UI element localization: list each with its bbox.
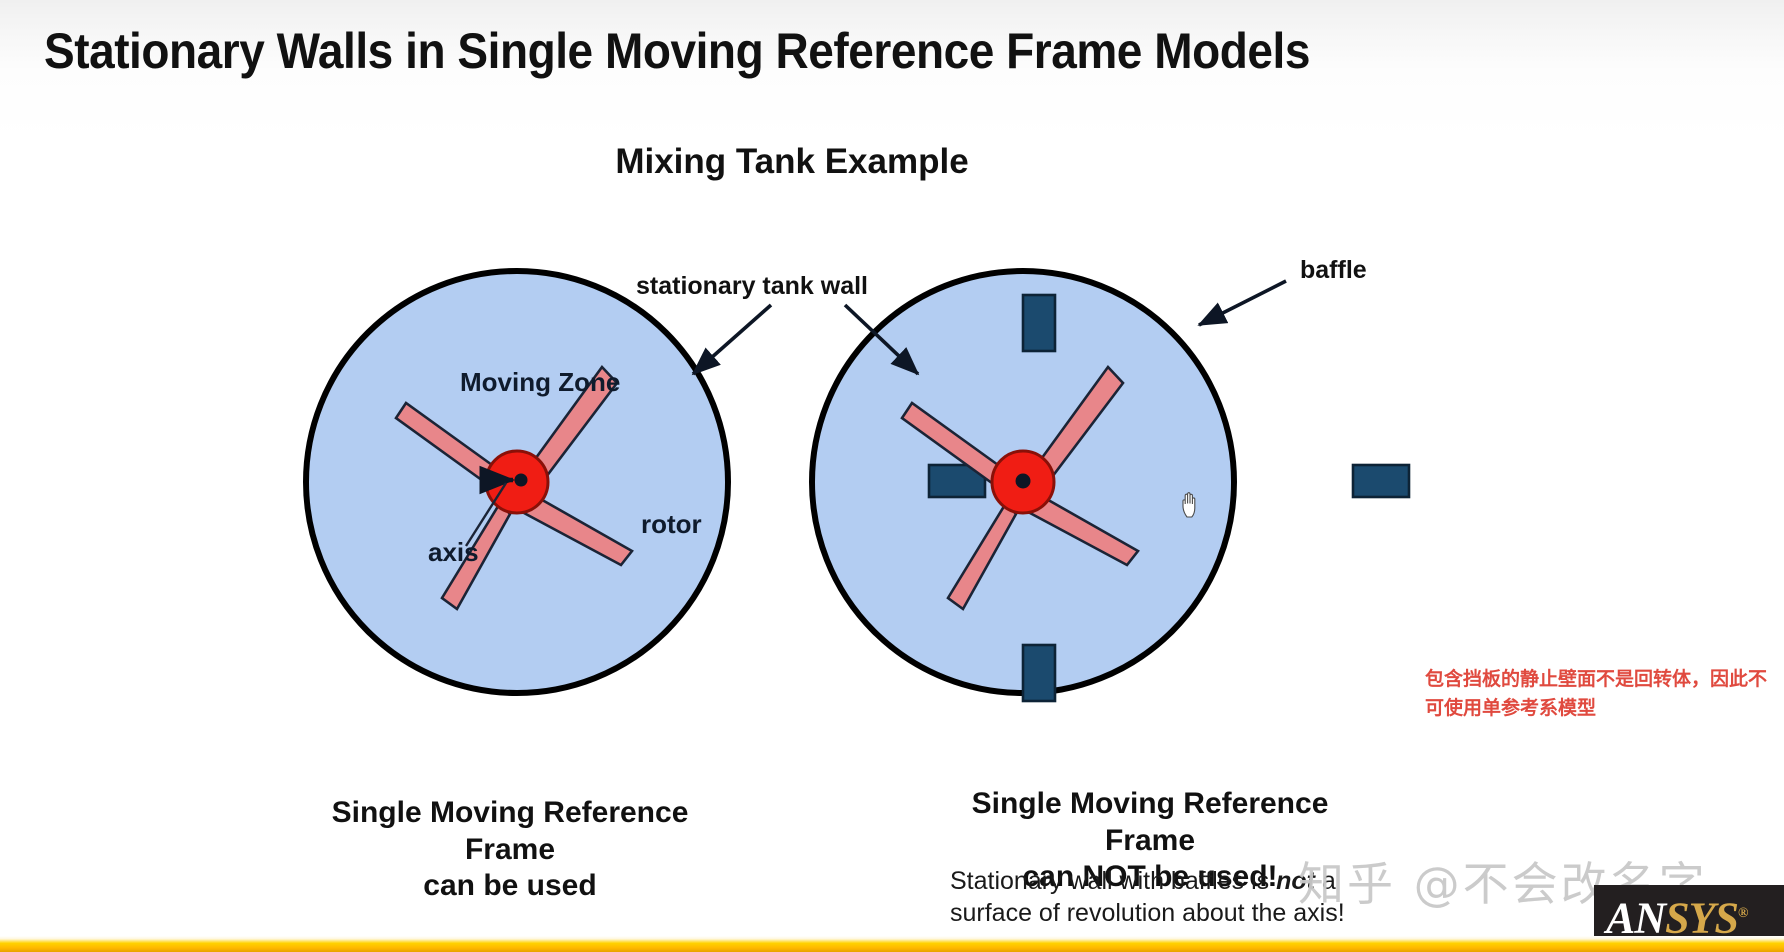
page-subtitle: Mixing Tank Example xyxy=(0,142,1784,182)
baffle-top-visible xyxy=(1023,295,1055,351)
label-axis: axis xyxy=(428,537,479,568)
baffle-left-visible xyxy=(929,465,985,497)
right-rotor-hub xyxy=(992,451,1054,513)
left-rotor-hub xyxy=(486,451,548,513)
ansys-logo-text: ANSYS® xyxy=(1606,887,1747,943)
baffle-leader xyxy=(1199,281,1286,325)
right-rotor-blades xyxy=(902,367,1138,609)
right-axis-point xyxy=(1016,474,1031,489)
baffle-bottom-visible xyxy=(1023,645,1055,701)
ansys-logo: ANSYS® xyxy=(1594,885,1784,943)
footer-gold-bar xyxy=(0,936,1784,952)
slide-canvas: Stationary Walls in Single Moving Refere… xyxy=(0,0,1784,952)
ansys-logo-registered: ® xyxy=(1738,906,1747,921)
label-baffle: baffle xyxy=(1300,256,1367,285)
caption-left-tank: Single Moving Reference Frame can be use… xyxy=(290,795,730,905)
left-rotor-blades xyxy=(396,367,632,609)
grab-hand-cursor xyxy=(1180,490,1206,520)
annotation-chinese-note: 包含挡板的静止壁面不是回转体，因此不可使用单参考系模型 xyxy=(1425,665,1775,724)
right-tank-wall xyxy=(812,271,1234,693)
left-axis-point xyxy=(515,474,528,487)
page-subtitle-text: Mixing Tank Example xyxy=(615,142,968,182)
tankwall-leader-left xyxy=(693,305,771,374)
baffle-right-visible xyxy=(1353,465,1409,497)
tankwall-leader-right xyxy=(845,305,918,374)
label-rotor: rotor xyxy=(641,509,702,540)
right-tank-group xyxy=(812,271,1409,701)
left-tank-wall xyxy=(306,271,728,693)
label-moving-zone: Moving Zone xyxy=(460,367,620,398)
left-tank-group xyxy=(306,271,728,693)
subcap-prefix: Stationary wall with baffles is xyxy=(950,867,1276,895)
page-title: Stationary Walls in Single Moving Refere… xyxy=(44,22,1310,80)
label-stationary-tank-wall: stationary tank wall xyxy=(636,272,868,301)
